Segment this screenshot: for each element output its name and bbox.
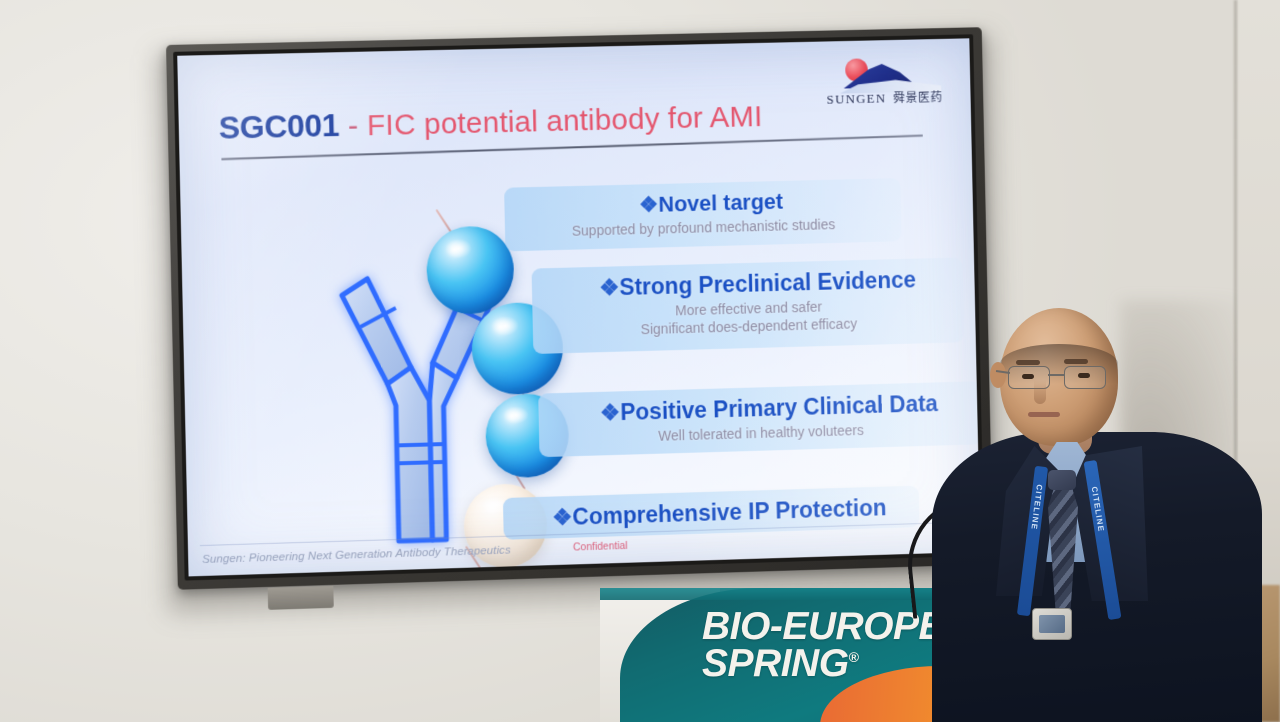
slide-title-code: SGC001 bbox=[218, 107, 339, 146]
logo-text: SUNGEN 舜景医药 bbox=[820, 88, 949, 108]
presenter-brow bbox=[1016, 360, 1040, 365]
presenter-badge bbox=[1032, 608, 1072, 640]
bullet-mark-icon: ❖ bbox=[599, 274, 620, 300]
footer-confidential: Confidential bbox=[573, 540, 628, 554]
bullet-preclinical-evidence: ❖Strong Preclinical Evidence More effect… bbox=[532, 257, 981, 340]
presenter-eye bbox=[1078, 373, 1090, 378]
bullet-mark-icon: ❖ bbox=[639, 192, 659, 217]
bullet-mark-icon: ❖ bbox=[552, 504, 573, 530]
slide-title: SGC001 - FIC potential antibody for AMI bbox=[218, 97, 763, 146]
bullet-novel-target: ❖Novel target Supported by profound mech… bbox=[504, 178, 917, 241]
sphere-highlight bbox=[503, 406, 528, 425]
presenter-ear bbox=[990, 362, 1006, 388]
slide: SGC001 - FIC potential antibody for AMI … bbox=[177, 38, 980, 576]
badge-inner bbox=[1039, 615, 1065, 633]
glasses-bridge bbox=[1048, 374, 1064, 376]
presentation-screen: SGC001 - FIC potential antibody for AMI … bbox=[166, 27, 993, 590]
registered-mark-icon: ® bbox=[849, 649, 859, 665]
podium-line-2-text: SPRING bbox=[702, 642, 849, 685]
slide-title-rest: FIC potential antibody for AMI bbox=[367, 100, 763, 142]
screen-stand bbox=[268, 586, 334, 610]
bullet-mark-icon: ❖ bbox=[600, 399, 621, 425]
bullet-clinical-data: ❖Positive Primary Clinical Data Well tol… bbox=[538, 381, 980, 448]
presenter-brow bbox=[1064, 359, 1088, 364]
sphere-highlight bbox=[445, 239, 472, 259]
slide-title-dash: - bbox=[339, 107, 368, 143]
logo-english-name: SUNGEN bbox=[827, 91, 887, 108]
sungen-logo: SUNGEN 舜景医药 bbox=[820, 55, 950, 119]
presenter: CITELINE CITELINE bbox=[960, 300, 1260, 722]
presenter-mouth bbox=[1028, 412, 1060, 417]
bullet-ip-protection: ❖Comprehensive IP Protection bbox=[503, 485, 935, 533]
presenter-eye bbox=[1022, 374, 1034, 379]
podium-line-2: SPRING® bbox=[702, 645, 944, 682]
bullet-heading-text: Novel target bbox=[658, 189, 783, 217]
sphere-highlight bbox=[491, 316, 519, 337]
logo-mark-icon bbox=[820, 55, 949, 93]
presentation-photo: SGC001 - FIC potential antibody for AMI … bbox=[0, 0, 1280, 722]
logo-chinese-name: 舜景医药 bbox=[893, 88, 943, 106]
presenter-nose bbox=[1034, 380, 1046, 404]
presenter-tie-knot bbox=[1048, 470, 1076, 490]
